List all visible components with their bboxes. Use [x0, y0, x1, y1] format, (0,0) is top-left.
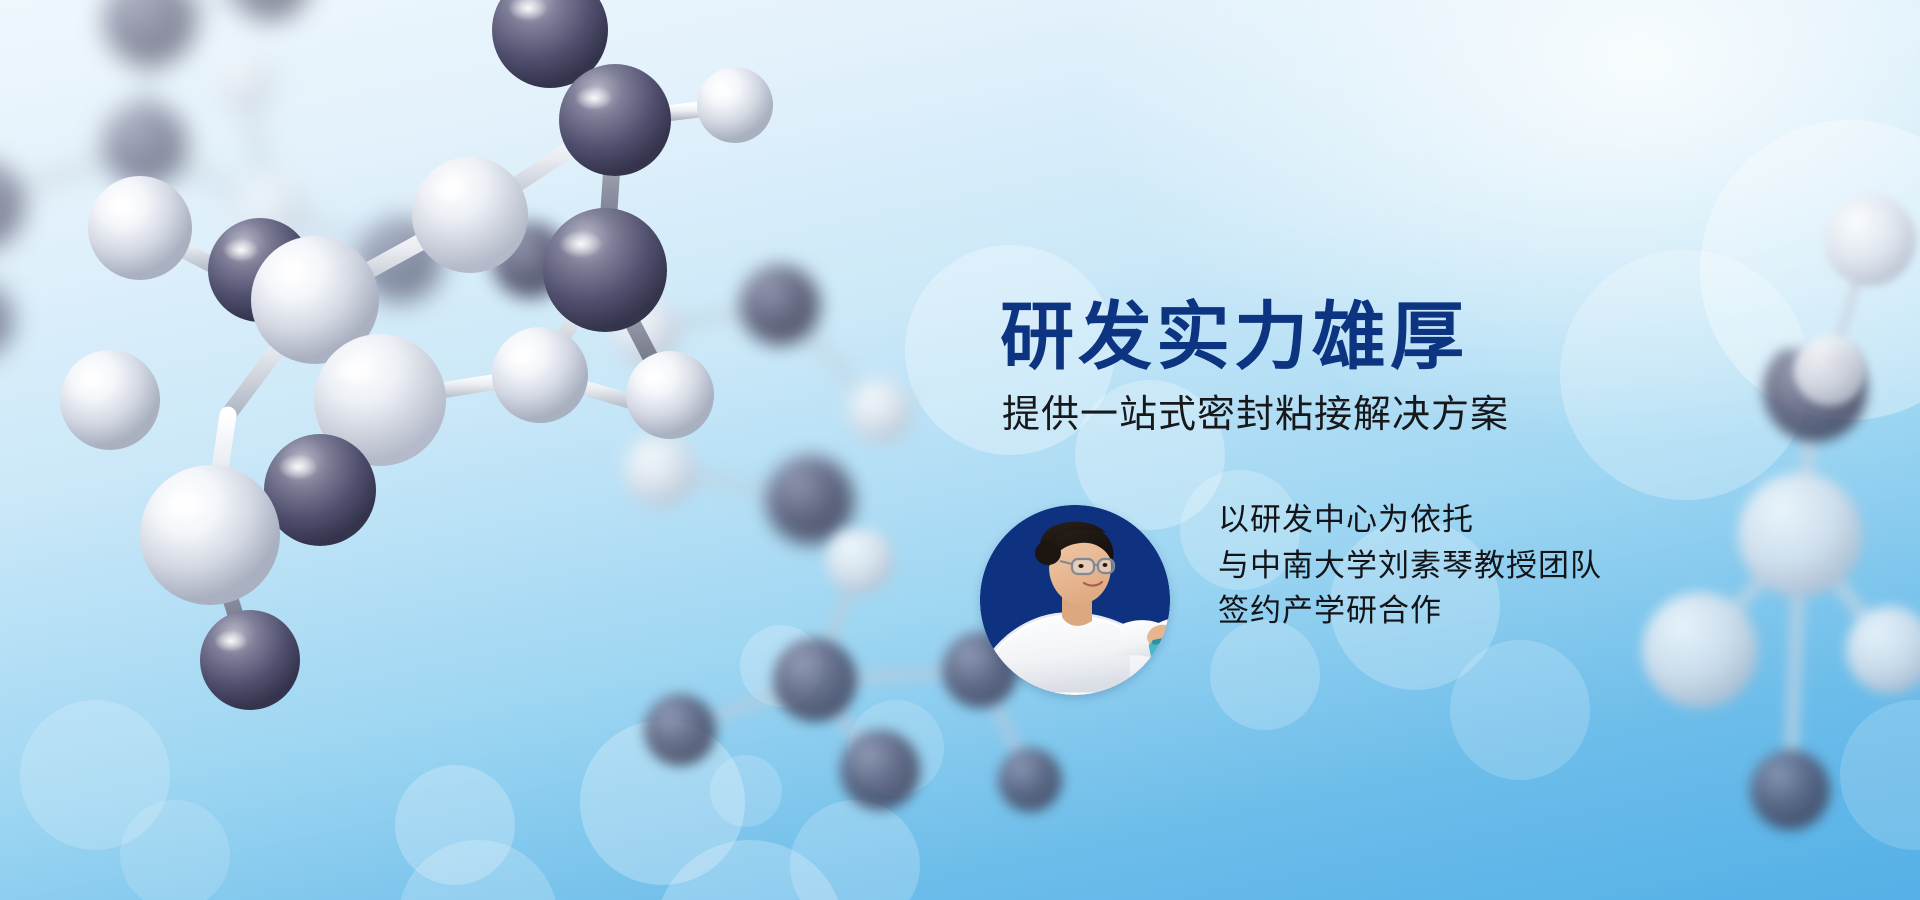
- bokeh-circle: [1700, 120, 1920, 420]
- bullet-list: 以研发中心为依托 与中南大学刘素琴教授团队 签约产学研合作: [1218, 497, 1602, 634]
- background-molecule-farright: [1760, 180, 1920, 440]
- bokeh-circle: [790, 800, 920, 900]
- foreground-molecule-graphic: [0, 0, 840, 770]
- bokeh-circle: [395, 765, 515, 885]
- page-subtitle: 提供一站式密封粘接解决方案: [1002, 396, 1620, 434]
- scientist-photo: [980, 505, 1170, 695]
- bokeh-circle: [398, 840, 558, 900]
- bokeh-circle: [655, 840, 845, 900]
- hero-banner: 研发实力雄厚 提供一站式密封粘接解决方案: [0, 0, 1920, 900]
- bullet-item: 以研发中心为依托: [1218, 497, 1602, 543]
- bullet-item: 与中南大学刘素琴教授团队: [1218, 543, 1602, 589]
- credentials-block: 以研发中心为依托 与中南大学刘素琴教授团队 签约产学研合作: [980, 505, 1700, 725]
- avatar: [980, 505, 1170, 695]
- page-title: 研发实力雄厚: [1000, 300, 1620, 374]
- headline-block: 研发实力雄厚 提供一站式密封粘接解决方案: [1000, 300, 1620, 434]
- bokeh-circle: [848, 700, 944, 796]
- bokeh-circle: [120, 800, 230, 900]
- bokeh-circle: [1840, 700, 1920, 850]
- bullet-item: 签约产学研合作: [1218, 588, 1602, 634]
